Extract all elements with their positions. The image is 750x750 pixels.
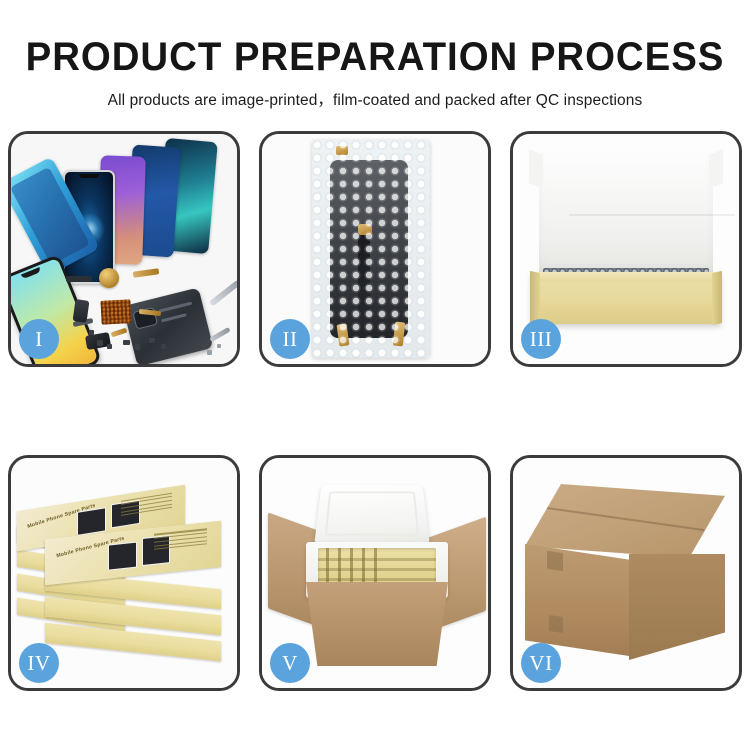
carton-top-face xyxy=(525,484,725,558)
box-lip xyxy=(531,272,721,282)
step-panel-3: III xyxy=(510,131,742,367)
step-panel-4: Mobile Phone Spare Parts Mobi xyxy=(8,455,240,691)
step-badge-4: IV xyxy=(19,643,59,683)
box-phone-graphic xyxy=(77,508,106,536)
yellow-inner-box xyxy=(531,272,721,324)
bubble-wrap-package xyxy=(312,140,430,358)
carton-tape xyxy=(547,551,563,571)
step-panel-6: VI xyxy=(510,455,742,691)
step-panel-5: V xyxy=(259,455,491,691)
foam-lid xyxy=(314,485,430,545)
infographic-page: PRODUCT PREPARATION PROCESS All products… xyxy=(0,0,750,750)
page-subtitle: All products are image-printed，film-coat… xyxy=(0,88,750,110)
step-panel-1: I xyxy=(8,131,240,367)
step-badge-5: V xyxy=(270,643,310,683)
carton-tape xyxy=(549,615,563,633)
step-badge-1: I xyxy=(19,319,59,359)
header: PRODUCT PREPARATION PROCESS All products… xyxy=(0,0,750,110)
step-badge-6: VI xyxy=(521,643,561,683)
page-title: PRODUCT PREPARATION PROCESS xyxy=(15,36,735,78)
box-edge-left xyxy=(530,271,540,325)
step-badge-3: III xyxy=(521,319,561,359)
box-edge-right xyxy=(712,271,722,325)
step-badge-2: II xyxy=(270,319,310,359)
carton-seam xyxy=(546,507,705,531)
lid-crease xyxy=(569,214,735,216)
bubble-texture-overlay xyxy=(312,140,430,358)
carton-front-face xyxy=(525,544,629,656)
foam-lid-rim xyxy=(325,492,420,536)
carton-body xyxy=(306,582,448,666)
box-phone-graphic xyxy=(108,542,136,571)
box-lid xyxy=(539,152,713,274)
step-panel-2: II xyxy=(259,131,491,367)
process-step-grid: I II xyxy=(0,131,750,691)
